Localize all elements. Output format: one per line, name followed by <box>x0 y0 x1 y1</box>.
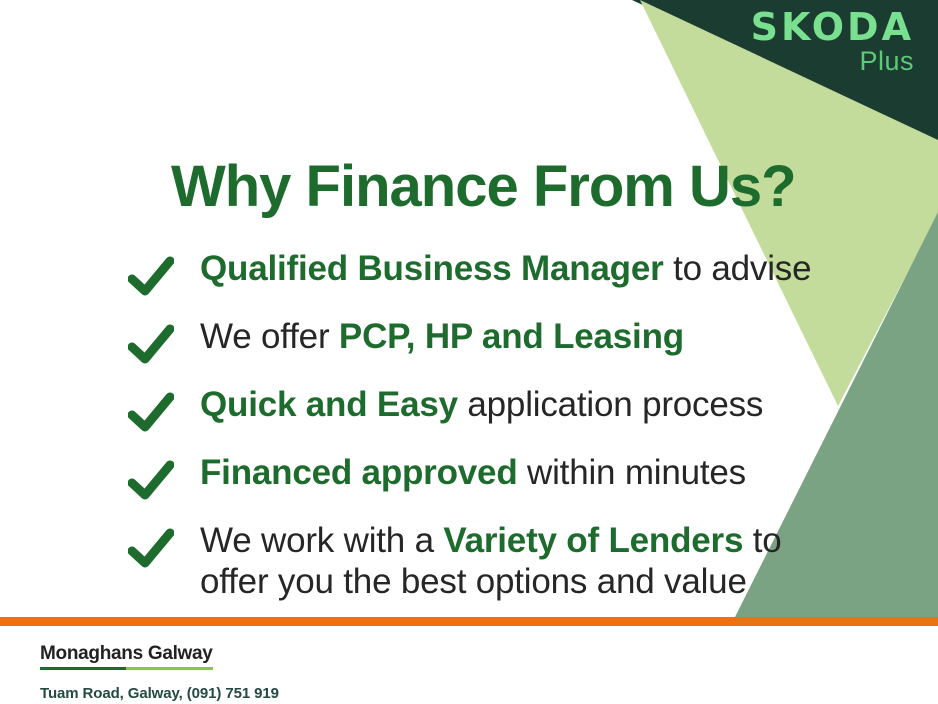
list-item-label: Qualified Business Manager to advise <box>200 249 811 290</box>
list-item: We work with a Variety of Lenders to off… <box>128 521 828 603</box>
dealer-underline <box>40 667 213 670</box>
list-item-label: Quick and Easy application process <box>200 385 763 426</box>
check-icon <box>128 391 174 435</box>
dealer-name: Monaghans Galway <box>40 643 213 665</box>
list-item: Quick and Easy application process <box>128 385 828 435</box>
emphasis-text: Financed approved <box>200 453 518 492</box>
check-icon <box>128 323 174 367</box>
check-icon <box>128 255 174 299</box>
emphasis-text: Quick and Easy <box>200 385 458 424</box>
plain-text: We offer <box>200 317 339 356</box>
plain-text: within minutes <box>518 453 746 492</box>
plain-text: application process <box>458 385 763 424</box>
orange-divider <box>0 617 938 626</box>
underline-dark-segment <box>40 667 126 670</box>
footer: Monaghans Galway Tuam Road, Galway, (091… <box>40 643 279 702</box>
page-title: Why Finance From Us? <box>171 153 796 220</box>
plain-text: We work with a <box>200 521 443 560</box>
check-icon <box>128 527 174 571</box>
promo-poster: SKODA Plus Why Finance From Us? Qualifie… <box>0 0 938 704</box>
list-item-label: Financed approved within minutes <box>200 453 746 494</box>
list-item-label: We work with a Variety of Lenders to off… <box>200 521 828 603</box>
benefits-list: Qualified Business Manager to adviseWe o… <box>128 249 828 603</box>
list-item-label: We offer PCP, HP and Leasing <box>200 317 684 358</box>
check-icon <box>128 459 174 503</box>
emphasis-text: Qualified Business Manager <box>200 249 664 288</box>
emphasis-text: Variety of Lenders <box>443 521 743 560</box>
dealer-name-wrap: Monaghans Galway <box>40 643 213 670</box>
brand-logo: SKODA Plus <box>751 8 914 75</box>
list-item: Qualified Business Manager to advise <box>128 249 828 299</box>
dealer-address: Tuam Road, Galway, (091) 751 919 <box>40 685 279 702</box>
emphasis-text: PCP, HP and Leasing <box>339 317 684 356</box>
skoda-plus-sublabel: Plus <box>751 48 914 75</box>
underline-light-segment <box>126 667 212 670</box>
skoda-wordmark: SKODA <box>751 8 914 46</box>
list-item: We offer PCP, HP and Leasing <box>128 317 828 367</box>
list-item: Financed approved within minutes <box>128 453 828 503</box>
plain-text: to advise <box>664 249 812 288</box>
